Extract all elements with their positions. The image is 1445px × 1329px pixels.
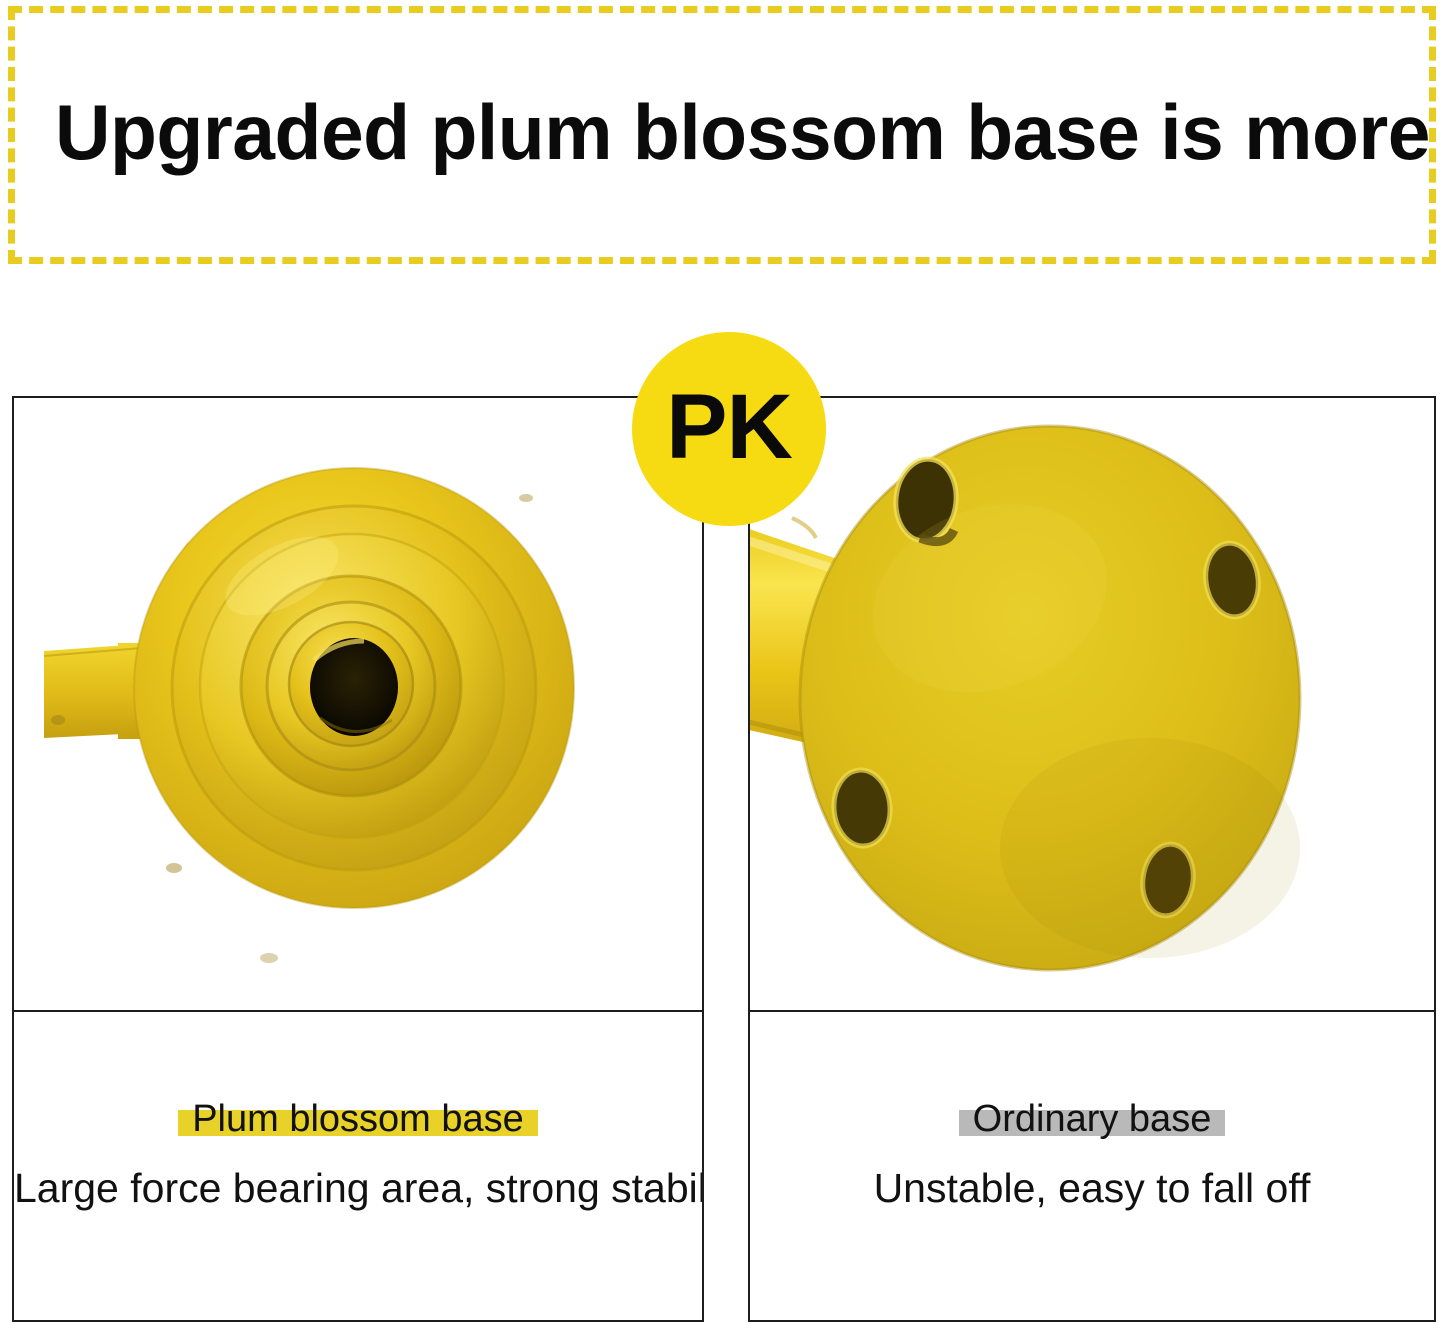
- comparison-panel-right: Ordinary base Unstable, easy to fall off: [748, 396, 1436, 1322]
- caption-subtitle-right: Unstable, easy to fall off: [750, 1166, 1434, 1211]
- page-title: Upgraded plum blossom base is more solid: [55, 93, 1445, 171]
- caption-title-wrap-left: Plum blossom base: [192, 1100, 524, 1138]
- caption-right: Ordinary base Unstable, easy to fall off: [750, 1012, 1434, 1320]
- pk-badge-label: PK: [666, 381, 792, 473]
- pk-badge: PK: [632, 332, 826, 526]
- plum-blossom-base-photo: [14, 398, 702, 1010]
- caption-title-left: Plum blossom base: [192, 1098, 524, 1140]
- caption-title-wrap-right: Ordinary base: [973, 1100, 1212, 1138]
- caption-subtitle-left: Large force bearing area, strong stabili…: [14, 1166, 702, 1211]
- caption-left: Plum blossom base Large force bearing ar…: [14, 1012, 702, 1320]
- caption-title-right: Ordinary base: [973, 1098, 1212, 1140]
- title-banner: Upgraded plum blossom base is more solid: [8, 6, 1436, 264]
- comparison-panel-left: Plum blossom base Large force bearing ar…: [12, 396, 704, 1322]
- plum-blossom-base-illustration: [14, 398, 702, 1010]
- ordinary-round-flange-base-photo: [750, 398, 1434, 1010]
- ordinary-base-illustration: [750, 398, 1434, 1010]
